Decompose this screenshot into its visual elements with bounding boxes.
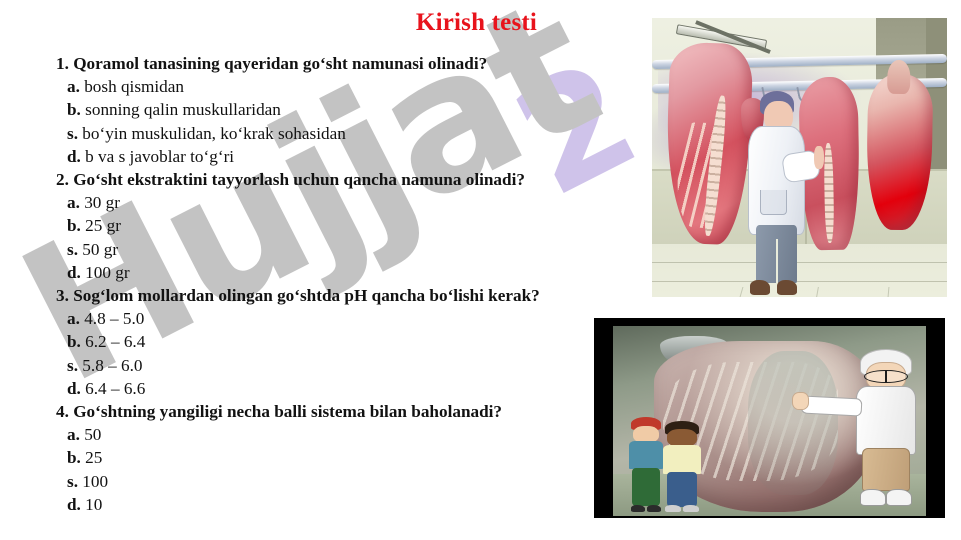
inspector-coat-pocket bbox=[760, 190, 787, 216]
answer-option[interactable]: d. b va s javoblar to‘g‘ri bbox=[0, 145, 640, 168]
answer-key: s. bbox=[67, 472, 78, 491]
answer-key: a. bbox=[67, 309, 80, 328]
carcass-photo-with-cartoon-characters bbox=[594, 318, 945, 518]
answer-text: sonning qalin muskullaridan bbox=[85, 100, 281, 119]
answer-key: d. bbox=[67, 379, 81, 398]
meat-inspection-illustration bbox=[652, 18, 947, 297]
inspector-figure bbox=[741, 91, 818, 297]
question-heading: 3. Sog‘lom mollardan olingan go‘shtda pH… bbox=[0, 284, 640, 307]
answer-key: b. bbox=[67, 448, 81, 467]
answer-key: a. bbox=[67, 425, 80, 444]
answer-key: b. bbox=[67, 216, 81, 235]
answer-text: 5.8 – 6.0 bbox=[82, 356, 142, 375]
cartoon-child-two bbox=[660, 421, 704, 512]
answer-key: d. bbox=[67, 263, 81, 282]
carcass-shading bbox=[748, 351, 838, 495]
answer-key: a. bbox=[67, 193, 80, 212]
answer-option[interactable]: s. 5.8 – 6.0 bbox=[0, 354, 640, 377]
answer-text: 4.8 – 5.0 bbox=[84, 309, 144, 328]
answer-text: 6.2 – 6.4 bbox=[85, 332, 145, 351]
question-heading: 2. Go‘sht ekstraktini tayyorlash uchun q… bbox=[0, 168, 640, 191]
professor-pointing-hand bbox=[792, 392, 809, 410]
answer-option[interactable]: b. 6.2 – 6.4 bbox=[0, 330, 640, 353]
answer-key: s. bbox=[67, 240, 78, 259]
answer-text: 25 bbox=[85, 448, 102, 467]
answer-key: s. bbox=[67, 124, 78, 143]
answer-option[interactable]: s. 50 gr bbox=[0, 238, 640, 261]
question-heading: 4. Go‘shtning yangiligi necha balli sist… bbox=[0, 400, 640, 423]
answer-key: b. bbox=[67, 100, 81, 119]
answer-option[interactable]: b. 25 bbox=[0, 446, 640, 469]
child-shirt bbox=[663, 445, 701, 474]
answer-option[interactable]: b. 25 gr bbox=[0, 214, 640, 237]
photo-frame bbox=[613, 326, 925, 516]
floor-line bbox=[888, 287, 890, 297]
answer-text: 30 gr bbox=[84, 193, 120, 212]
child-face bbox=[667, 429, 697, 446]
professor-shoe-right bbox=[886, 489, 911, 505]
child-trousers bbox=[667, 472, 697, 507]
answer-key: d. bbox=[67, 147, 81, 166]
answer-option[interactable]: b. sonning qalin muskullaridan bbox=[0, 98, 640, 121]
professor-lab-coat bbox=[856, 386, 916, 455]
cartoon-professor bbox=[851, 349, 920, 509]
inspector-shoe-right bbox=[777, 280, 798, 294]
answer-option[interactable]: d. 6.4 – 6.6 bbox=[0, 377, 640, 400]
answer-text: 50 gr bbox=[82, 240, 118, 259]
answer-key: d. bbox=[67, 495, 81, 514]
child-shoe-left bbox=[665, 505, 681, 512]
slide-title-text: Kirish testi bbox=[416, 9, 537, 37]
answer-option[interactable]: s. 100 bbox=[0, 470, 640, 493]
answer-text: 10 bbox=[85, 495, 102, 514]
answer-text: bo‘yin muskulidan, ko‘krak sohasidan bbox=[82, 124, 346, 143]
answer-option[interactable]: a. 50 bbox=[0, 423, 640, 446]
answer-option[interactable]: d. 10 bbox=[0, 493, 640, 516]
answer-option[interactable]: d. 100 gr bbox=[0, 261, 640, 284]
inspector-shoe-left bbox=[750, 280, 771, 294]
carcass-neck bbox=[888, 60, 911, 95]
answer-text: 50 bbox=[84, 425, 101, 444]
child-shoe-right bbox=[683, 505, 699, 512]
answer-option[interactable]: a. bosh qismidan bbox=[0, 75, 640, 98]
answer-text: 100 bbox=[82, 472, 108, 491]
answer-option[interactable]: a. 30 gr bbox=[0, 191, 640, 214]
answer-text: 6.4 – 6.6 bbox=[85, 379, 145, 398]
professor-trousers bbox=[862, 448, 911, 491]
professor-pointing-arm bbox=[801, 395, 863, 416]
answer-text: bosh qismidan bbox=[84, 77, 184, 96]
answer-key: b. bbox=[67, 332, 81, 351]
inspector-hand bbox=[814, 146, 824, 169]
question-block: 3. Sog‘lom mollardan olingan go‘shtda pH… bbox=[0, 284, 640, 400]
inspector-leg-gap bbox=[776, 239, 778, 282]
child-trousers bbox=[632, 468, 660, 506]
question-block: 2. Go‘sht ekstraktini tayyorlash uchun q… bbox=[0, 168, 640, 284]
question-block: 1. Qoramol tanasining qayeridan go‘sht n… bbox=[0, 52, 640, 168]
professor-shoe-left bbox=[860, 489, 885, 505]
answer-text: 25 gr bbox=[85, 216, 121, 235]
answer-key: a. bbox=[67, 77, 80, 96]
answer-text: 100 gr bbox=[85, 263, 129, 282]
child-shoe-left bbox=[631, 505, 646, 513]
slide-canvas: 2 Hujjat Kirish testi 1. Qoramol tanasin… bbox=[0, 0, 961, 540]
answer-key: s. bbox=[67, 356, 78, 375]
question-heading: 1. Qoramol tanasining qayeridan go‘sht n… bbox=[0, 52, 640, 75]
answer-text: b va s javoblar to‘g‘ri bbox=[85, 147, 234, 166]
child-shirt bbox=[629, 441, 663, 470]
answer-option[interactable]: a. 4.8 – 5.0 bbox=[0, 307, 640, 330]
quiz-list: 1. Qoramol tanasining qayeridan go‘sht n… bbox=[0, 52, 640, 516]
answer-option[interactable]: s. bo‘yin muskulidan, ko‘krak sohasidan bbox=[0, 122, 640, 145]
question-block: 4. Go‘shtning yangiligi necha balli sist… bbox=[0, 400, 640, 516]
spine bbox=[823, 142, 834, 242]
